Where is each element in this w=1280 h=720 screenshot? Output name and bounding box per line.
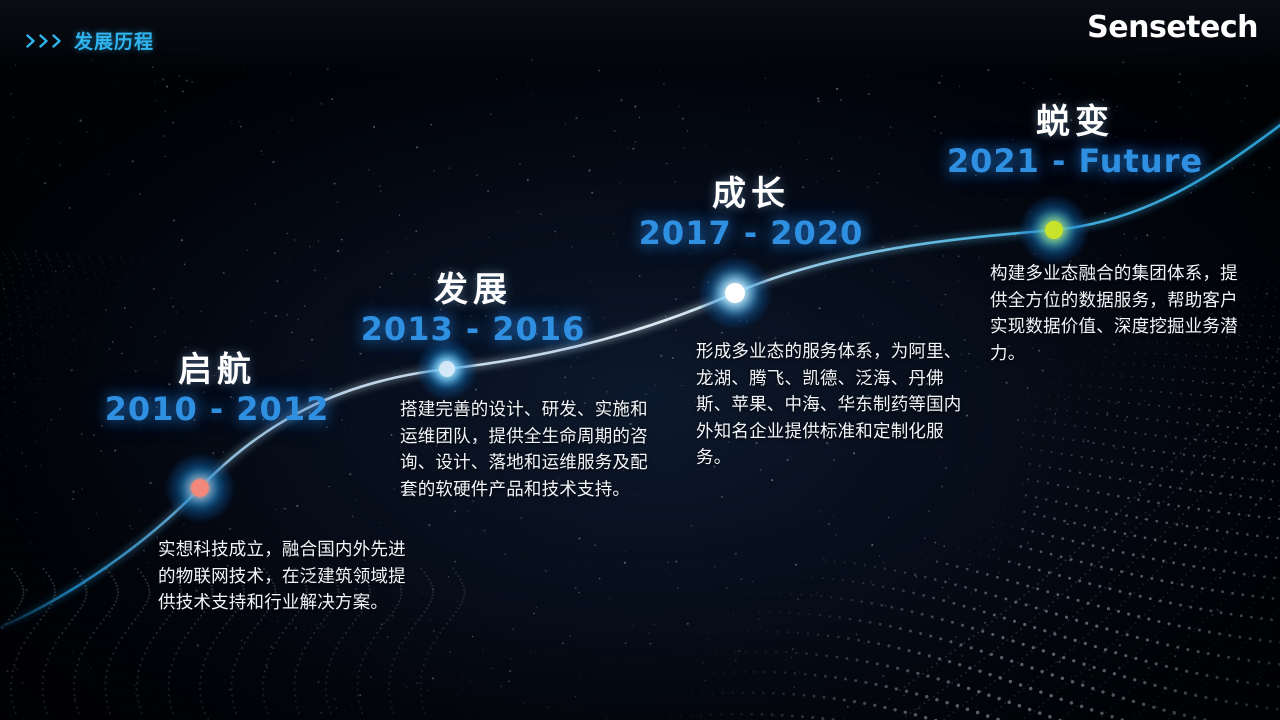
- milestone-title: 启航: [104, 352, 330, 389]
- milestone-heading-4: 蜕变 2021 - Future: [940, 104, 1210, 180]
- milestone-title: 蜕变: [940, 104, 1210, 141]
- brand-logo: Sensetech: [1087, 10, 1258, 45]
- milestone-years: 2013 - 2016: [350, 311, 596, 348]
- milestone-years: 2021 - Future: [940, 143, 1210, 180]
- breadcrumb: 发展历程: [26, 27, 154, 54]
- milestone-years: 2010 - 2012: [104, 391, 330, 428]
- milestone-description-1: 实想科技成立，融合国内外先进的物联网技术，在泛建筑领域提供技术支持和行业解决方案…: [158, 536, 420, 616]
- milestone-heading-2: 发展 2013 - 2016: [350, 272, 596, 348]
- milestone-heading-3: 成长 2017 - 2020: [628, 176, 874, 252]
- chevrons-right-icon: [26, 34, 63, 48]
- page-title: 发展历程: [74, 27, 154, 54]
- node-core-icon: [439, 361, 455, 377]
- node-core-icon: [1045, 221, 1063, 239]
- milestone-heading-1: 启航 2010 - 2012: [104, 352, 330, 428]
- milestone-description-3: 形成多业态的服务体系，为阿里、龙湖、腾飞、凯德、泛海、丹佛斯、苹果、中海、华东制…: [696, 338, 974, 471]
- node-core-icon: [725, 283, 745, 303]
- node-core-icon: [191, 479, 209, 497]
- milestone-title: 发展: [350, 272, 596, 309]
- milestone-description-2: 搭建完善的设计、研发、实施和运维团队，提供全生命周期的咨询、设计、落地和运维服务…: [400, 396, 654, 502]
- milestone-title: 成长: [628, 176, 874, 213]
- milestone-years: 2017 - 2020: [628, 215, 874, 252]
- slide-canvas: 发展历程 Sensetech: [0, 0, 1280, 720]
- milestone-description-4: 构建多业态融合的集团体系，提供全方位的数据服务，帮助客户实现数据价值、深度挖掘业…: [990, 260, 1252, 366]
